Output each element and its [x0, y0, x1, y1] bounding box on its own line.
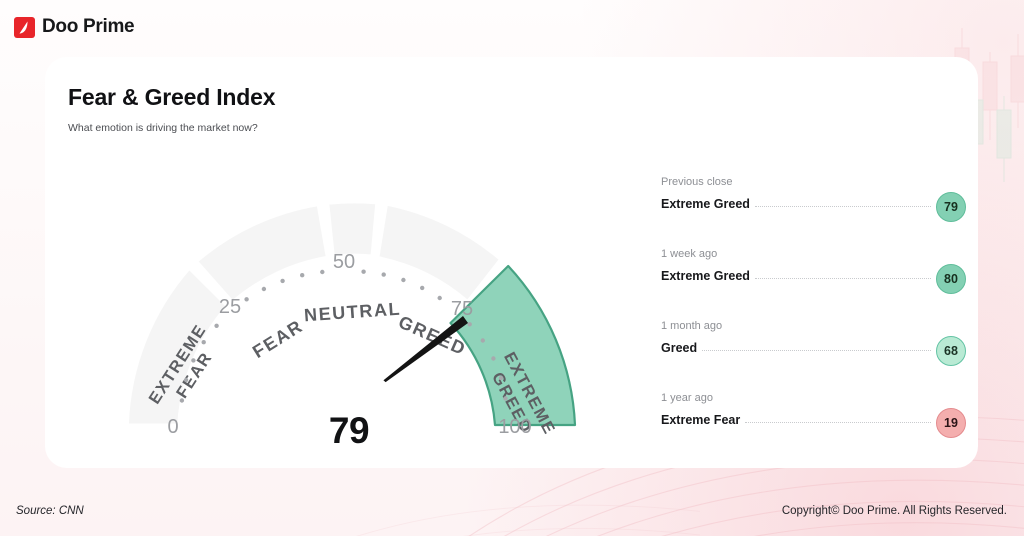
- status-badge: 68: [936, 336, 966, 366]
- page-title: Fear & Greed Index: [68, 84, 275, 111]
- row-timeframe: Previous close: [661, 175, 966, 189]
- gauge-segment-extreme-fear: [127, 268, 227, 425]
- page-subtitle: What emotion is driving the market now?: [68, 122, 258, 134]
- history-list: Previous close Extreme Greed 79 1 week a…: [661, 175, 966, 463]
- gauge-svg: EXTREMEFEAR FEAR NEUTRAL GREED EXTREMEGR…: [55, 135, 655, 465]
- fear-greed-gauge: EXTREMEFEAR FEAR NEUTRAL GREED EXTREMEGR…: [55, 135, 655, 465]
- gauge-segment-greed: [378, 204, 501, 301]
- list-item[interactable]: 1 year ago Extreme Fear 19: [661, 391, 966, 463]
- row-leader-dots: [702, 342, 931, 351]
- gauge-segment-neutral: [328, 202, 377, 256]
- row-sentiment: Extreme Fear: [661, 413, 740, 427]
- gauge-segment-fear: [197, 205, 328, 302]
- segment-label-neutral: NEUTRAL: [303, 299, 401, 326]
- list-item[interactable]: 1 month ago Greed 68: [661, 319, 966, 391]
- list-item[interactable]: 1 week ago Extreme Greed 80: [661, 247, 966, 319]
- tick-label-50: 50: [333, 251, 355, 273]
- status-badge: 80: [936, 264, 966, 294]
- tick-label-0: 0: [167, 416, 178, 438]
- row-leader-dots: [755, 198, 931, 207]
- row-sentiment: Extreme Greed: [661, 197, 750, 211]
- row-timeframe: 1 month ago: [661, 319, 966, 333]
- copyright-notice: Copyright© Doo Prime. All Rights Reserve…: [782, 505, 1007, 517]
- source-credit: Source: CNN: [16, 505, 84, 517]
- poster-canvas: Doo Prime Fear & Greed Index What emotio…: [0, 0, 1024, 536]
- row-sentiment: Greed: [661, 341, 697, 355]
- brand-logo: Doo Prime: [14, 16, 134, 38]
- brand-name: Doo Prime: [42, 16, 134, 38]
- row-timeframe: 1 year ago: [661, 391, 966, 405]
- doo-prime-mark-icon: [14, 17, 35, 38]
- index-card: Fear & Greed Index What emotion is drivi…: [45, 57, 978, 468]
- status-badge: 79: [936, 192, 966, 222]
- status-badge: 19: [936, 408, 966, 438]
- tick-label-75: 75: [451, 298, 473, 320]
- row-leader-dots: [745, 414, 931, 423]
- tick-label-25: 25: [219, 296, 241, 318]
- row-timeframe: 1 week ago: [661, 247, 966, 261]
- list-item[interactable]: Previous close Extreme Greed 79: [661, 175, 966, 247]
- row-leader-dots: [755, 270, 931, 279]
- row-sentiment: Extreme Greed: [661, 269, 750, 283]
- segment-label-fear: FEAR: [249, 316, 307, 362]
- tick-label-100: 100: [498, 416, 531, 438]
